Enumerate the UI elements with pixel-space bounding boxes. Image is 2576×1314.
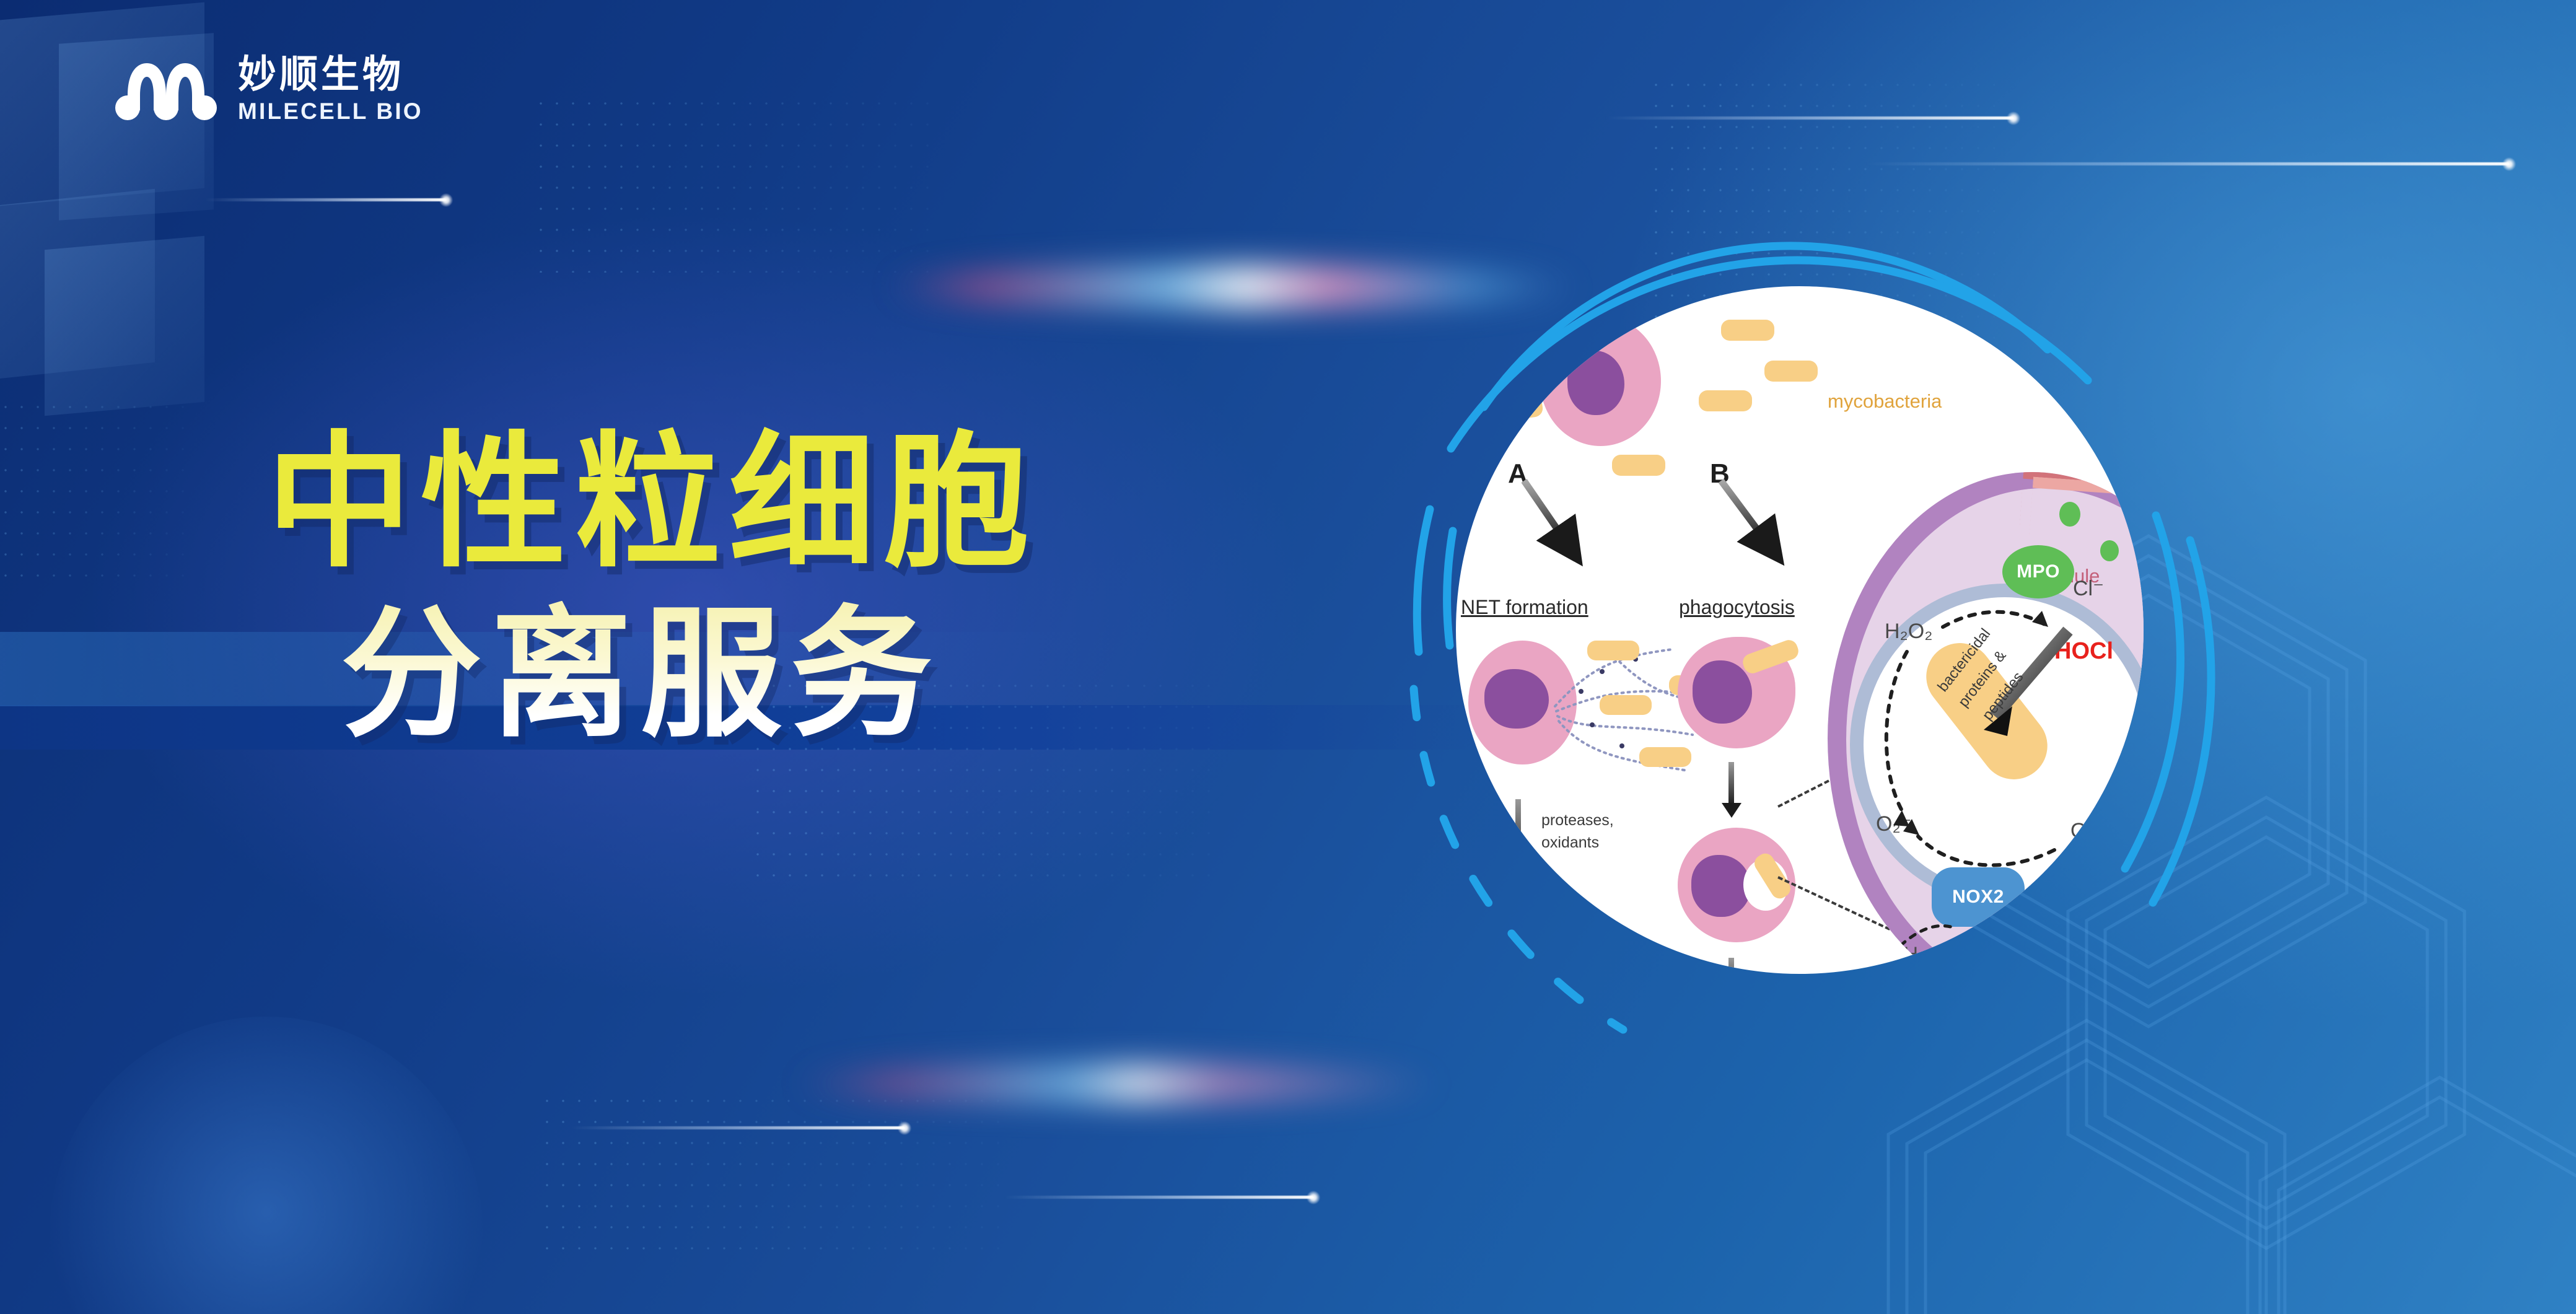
bacterium-rod	[1740, 637, 1800, 676]
label-host-damage-line1: Host tissue	[1492, 942, 1575, 961]
mpo-granule-dot	[2100, 540, 2119, 561]
decor-lens-flare-bottom	[793, 1066, 1444, 1102]
brand-name-cn: 妙顺生物	[238, 56, 423, 94]
bacterium-rod	[1587, 641, 1639, 660]
bacterium-rod	[1721, 320, 1774, 341]
arrow-phago-1	[1728, 762, 1734, 805]
neutrophil-diagram: mycobacteria A B NET f	[1357, 218, 2224, 1098]
decor-comet-5	[1004, 1196, 1313, 1199]
label-net-formation: NET formation	[1461, 596, 1588, 619]
decor-comet-3	[204, 198, 446, 201]
magnified-neutrophil: granule H₂O₂ O₂⁻ O₂ Cl⁻ HOCl	[1828, 472, 2144, 974]
poster-canvas: 妙顺生物 MILECELL BIO 中性粒细胞 分离服务	[0, 0, 2576, 1314]
label-proteases-line2: oxidants	[1541, 834, 1599, 852]
bacterium-rod	[1600, 695, 1652, 715]
brand-name-en: MILECELL BIO	[238, 100, 423, 123]
brand-logo[interactable]: 妙顺生物 MILECELL BIO	[115, 55, 423, 124]
label-mycobacteria: mycobacteria	[1828, 390, 1942, 413]
nadph-arrows-icon	[1895, 914, 2068, 974]
bacterium-rod	[1764, 361, 1818, 382]
branch-arrows-icon	[1505, 472, 1852, 584]
arrow-phago-2	[1728, 958, 1734, 974]
decor-dotfield-top	[533, 93, 942, 273]
decor-comet-1	[1605, 116, 2013, 120]
arrow-proteases	[1515, 799, 1521, 871]
decor-card-4	[45, 236, 204, 416]
decor-comet-4	[570, 1126, 905, 1129]
decor-comet-2	[1865, 162, 2509, 165]
label-phagosome: phagosome	[2110, 881, 2144, 901]
mpo-granule-dot	[2059, 502, 2080, 527]
label-phagocytosis: phagocytosis	[1679, 596, 1795, 619]
headline-block: 中性粒细胞 分离服务	[266, 427, 1038, 748]
enzyme-mpo: MPO	[2002, 545, 2074, 598]
diagram-disc: mycobacteria A B NET f	[1456, 286, 2144, 974]
decor-dotfield-farleft	[0, 396, 186, 582]
headline-line-1: 中性粒细胞	[266, 427, 1038, 579]
neutrophil-source	[1540, 316, 1661, 446]
milecell-m-mark-icon	[115, 55, 217, 124]
neutrophil-internalized	[1678, 828, 1795, 942]
label-proteases-line1: proteases,	[1541, 812, 1614, 830]
bacterium-rod	[1639, 747, 1691, 767]
neutrophil-engulfing	[1678, 637, 1795, 748]
decor-dotfield-bottom	[539, 1090, 1010, 1258]
bacterium-rod	[1699, 390, 1752, 411]
headline-line-2: 分离服务	[341, 601, 1038, 748]
label-host-damage-line2: damage	[1503, 965, 1564, 974]
